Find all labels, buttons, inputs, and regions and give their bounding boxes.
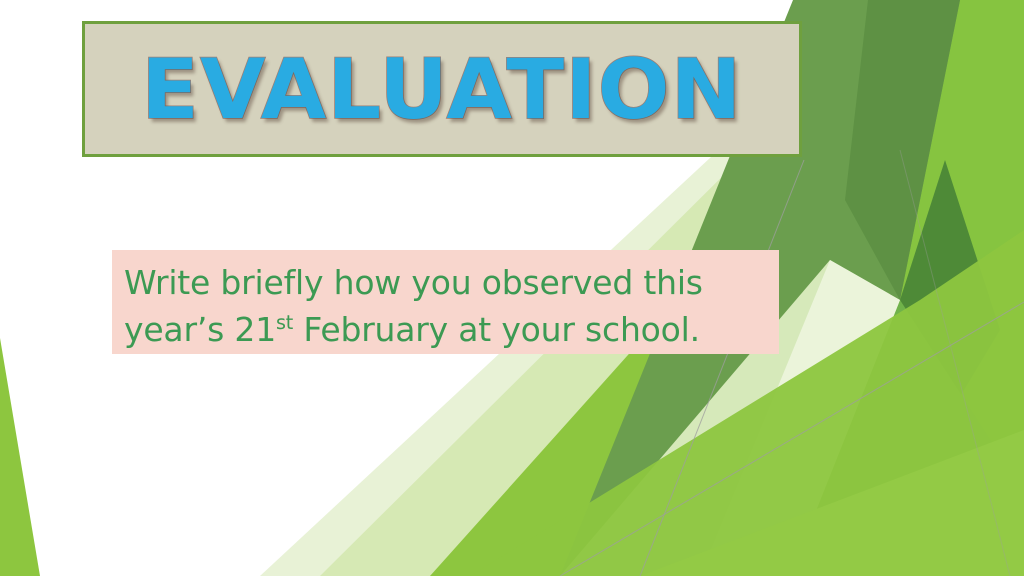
bright-green-bottom-triangle <box>640 430 1024 576</box>
body-line-1: Write briefly how you observed this <box>124 263 703 302</box>
title-box[interactable]: EVALUATION <box>82 21 802 157</box>
body-text-box[interactable]: Write briefly how you observed this year… <box>112 250 779 354</box>
deep-green-facet-accent <box>900 160 1000 430</box>
thin-diagonal-line-1 <box>640 160 804 576</box>
bright-green-facet-upper <box>840 0 1024 576</box>
ordinal-suffix: st <box>276 311 293 334</box>
left-green-wedge <box>0 338 40 576</box>
thin-diagonal-line-3 <box>900 150 1010 576</box>
body-paragraph: Write briefly how you observed this year… <box>124 260 767 354</box>
mid-green-facet <box>790 300 1010 576</box>
deep-green-facet-shadow <box>845 0 960 300</box>
body-line-2-prefix: year’s 21 <box>124 310 276 349</box>
body-line-2-suffix: February at your school. <box>293 310 700 349</box>
page-title: EVALUATION <box>141 48 742 131</box>
slide-canvas: EVALUATION Write briefly how you observe… <box>0 0 1024 576</box>
